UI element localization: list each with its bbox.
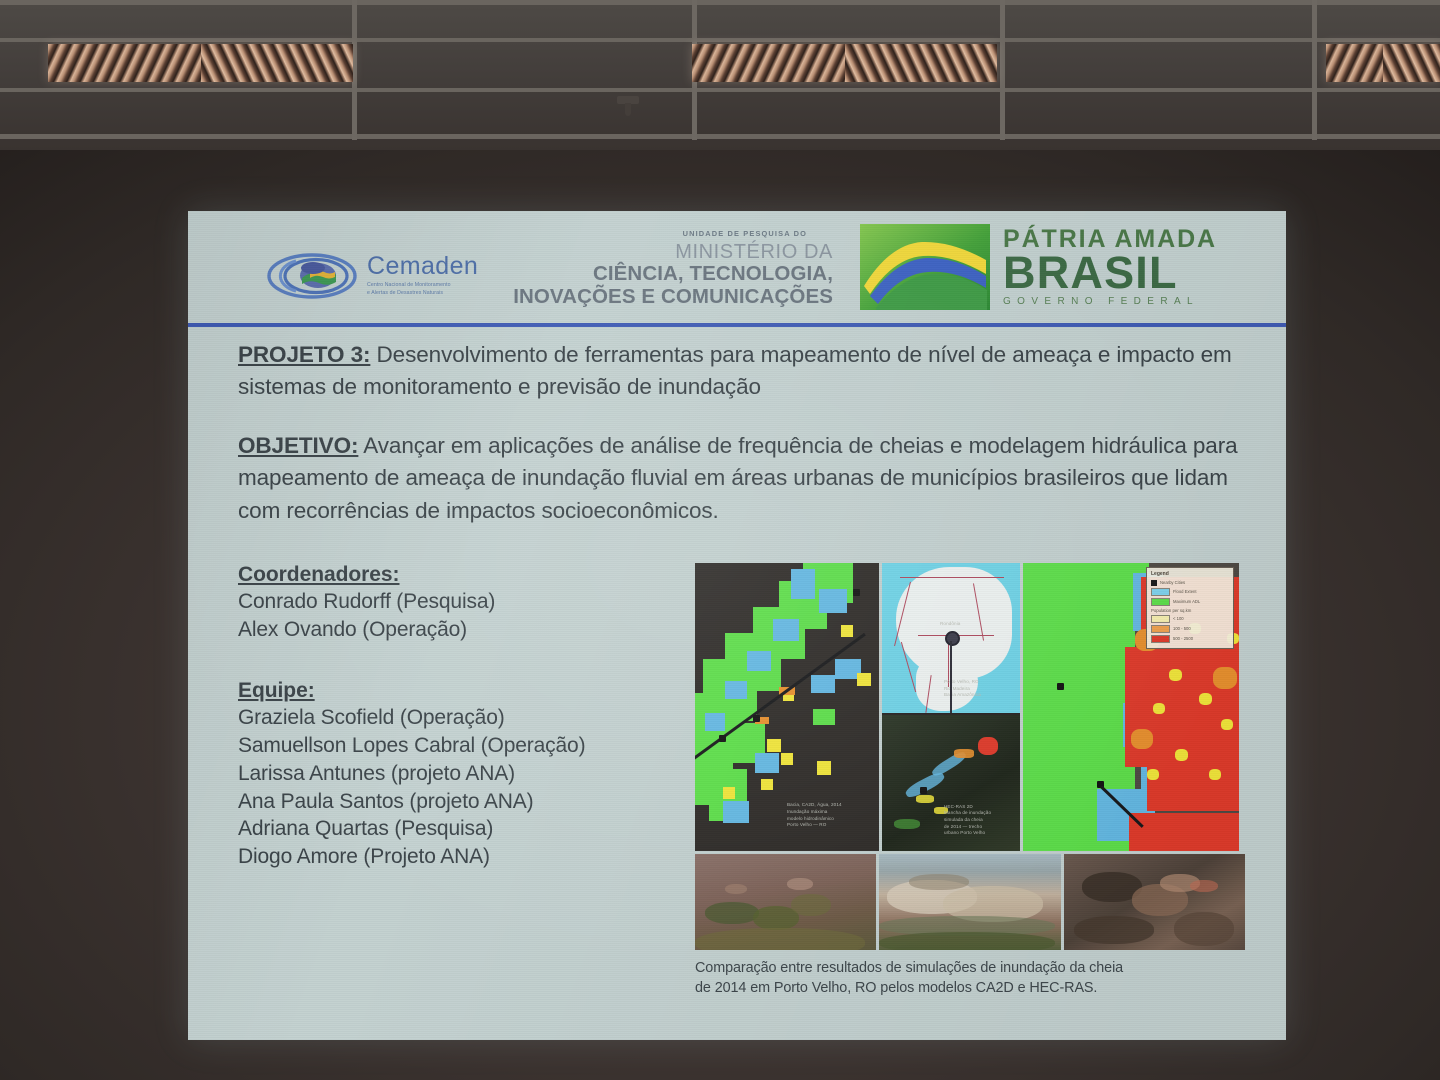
brasil-government-logo: PÁTRIA AMADA BRASIL GOVERNO FEDERAL xyxy=(860,224,1217,310)
location-pin-icon xyxy=(945,631,960,646)
cemaden-logo: Cemaden Centro Nacional de Monitoramento… xyxy=(266,253,478,299)
ministry-line2: CIÊNCIA, TECNOLOGIA, xyxy=(488,263,833,286)
brasil-flag-graphic xyxy=(860,224,990,310)
figure-block: Bacia, CA2D, Água, 2014Inundação máximam… xyxy=(695,563,1245,999)
flood-map-hecras: Legend Nearby Cities Flood Extent Maximu… xyxy=(1023,563,1239,851)
legend-label: 100 - 500 xyxy=(1173,626,1191,631)
photo-row xyxy=(695,854,1245,950)
ceiling xyxy=(0,0,1440,150)
list-item: Conrado Rudorff (Pesquisa) xyxy=(238,588,708,616)
legend-swatch xyxy=(1151,615,1170,623)
projeto-text: Desenvolvimento de ferramentas para mape… xyxy=(238,342,1232,399)
legend-title: Legend xyxy=(1151,571,1229,577)
projeto-paragraph: PROJETO 3: Desenvolvimento de ferramenta… xyxy=(238,339,1238,404)
figure-caption: Comparação entre resultados de simulaçõe… xyxy=(695,958,1245,999)
team-listing: Coordenadores: Conrado Rudorff (Pesquisa… xyxy=(238,563,708,871)
projected-slide: Cemaden Centro Nacional de Monitoramento… xyxy=(188,211,1286,1040)
map-row: Bacia, CA2D, Água, 2014Inundação máximam… xyxy=(695,563,1245,851)
legend-swatch xyxy=(1151,588,1170,596)
flood-photo-3 xyxy=(1064,854,1245,950)
cemaden-tagline-line1: Centro Nacional de Monitoramento xyxy=(367,282,478,290)
legend-row: Maximum ADL xyxy=(1151,598,1229,606)
list-item: Larissa Antunes (projeto ANA) xyxy=(238,760,708,788)
legend-row: Nearby Cities xyxy=(1151,580,1229,586)
legend-label: Flood Extent xyxy=(1173,589,1197,594)
list-item: Adriana Quartas (Pesquisa) xyxy=(238,815,708,843)
sprinkler-head xyxy=(617,96,639,104)
list-item: Samuellson Lopes Cabral (Operação) xyxy=(238,732,708,760)
caption-line-2: de 2014 em Porto Velho, RO pelos modelos… xyxy=(695,978,1245,998)
flood-photo-1 xyxy=(695,854,876,950)
legend-label: Maximum ADL xyxy=(1173,599,1200,604)
legend-label: < 100 xyxy=(1173,616,1184,621)
satellite-overlay: HEC-RAS 2DMancha de inundaçãosimulada da… xyxy=(882,715,1020,851)
list-item: Graziela Scofield (Operação) xyxy=(238,704,708,732)
cemaden-wordmark: Cemaden xyxy=(367,254,478,279)
ministry-line1: MINISTÉRIO DA xyxy=(488,242,833,263)
coordenadores-heading: Coordenadores: xyxy=(238,563,708,587)
list-item: Alex Ovando (Operação) xyxy=(238,616,708,644)
ministry-eyebrow: UNIDADE DE PESQUISA DO xyxy=(488,229,807,238)
legend-swatch xyxy=(1151,580,1157,586)
legend-label: 500 - 2500 xyxy=(1173,636,1193,641)
header-divider-rule xyxy=(188,323,1286,327)
coordenadores-block: Coordenadores: Conrado Rudorff (Pesquisa… xyxy=(238,563,708,643)
slide-body-text: PROJETO 3: Desenvolvimento de ferramenta… xyxy=(238,339,1238,527)
legend-ramp-row: < 100 xyxy=(1151,615,1229,623)
list-item: Diogo Amore (Projeto ANA) xyxy=(238,843,708,871)
ceiling-light-fixture xyxy=(692,44,997,82)
equipe-heading: Equipe: xyxy=(238,679,708,703)
legend-swatch xyxy=(1151,635,1170,643)
locator-and-satellite: Rondônia Porto Velho, RORio MadeiraBacia… xyxy=(882,563,1020,851)
legend-ramp-row: 100 - 500 xyxy=(1151,625,1229,633)
ministry-line3: INOVAÇÕES E COMUNICAÇÕES xyxy=(488,286,833,309)
slide-header: Cemaden Centro Nacional de Monitoramento… xyxy=(188,211,1286,323)
conference-room-scene: Cemaden Centro Nacional de Monitoramento… xyxy=(0,0,1440,1080)
legend-ramp-row: 500 - 2500 xyxy=(1151,635,1229,643)
objetivo-text: Avançar em aplicações de análise de freq… xyxy=(238,433,1238,523)
legend-swatch xyxy=(1151,598,1170,606)
caption-line-1: Comparação entre resultados de simulaçõe… xyxy=(695,958,1245,978)
legend-row: Flood Extent xyxy=(1151,588,1229,596)
map-legend: Legend Nearby Cities Flood Extent Maximu… xyxy=(1146,567,1234,649)
list-item: Ana Paula Santos (projeto ANA) xyxy=(238,788,708,816)
equipe-block: Equipe: Graziela Scofield (Operação) Sam… xyxy=(238,679,708,870)
flood-map-ca2d: Bacia, CA2D, Água, 2014Inundação máximam… xyxy=(695,563,879,851)
cemaden-tagline: Centro Nacional de Monitoramento e Alert… xyxy=(367,282,478,297)
ceiling-light-fixture xyxy=(48,44,353,82)
objetivo-label: OBJETIVO: xyxy=(238,433,358,458)
legend-swatch xyxy=(1151,625,1170,633)
ceiling-light-fixture xyxy=(1326,44,1440,82)
cemaden-eye-icon xyxy=(266,253,358,299)
connector-line xyxy=(950,641,952,713)
brasil-line2: BRASIL xyxy=(1003,250,1217,295)
projeto-label: PROJETO 3: xyxy=(238,342,370,367)
brasil-line3: GOVERNO FEDERAL xyxy=(1003,297,1217,307)
legend-subheader: Population per sq.km xyxy=(1151,608,1229,613)
objetivo-paragraph: OBJETIVO: Avançar em aplicações de análi… xyxy=(238,430,1238,527)
legend-label: Nearby Cities xyxy=(1160,580,1185,585)
cemaden-tagline-line2: e Alertas de Desastres Naturais xyxy=(367,290,478,298)
flood-photo-2 xyxy=(879,854,1060,950)
ministry-logo: UNIDADE DE PESQUISA DO MINISTÉRIO DA CIÊ… xyxy=(488,229,833,308)
